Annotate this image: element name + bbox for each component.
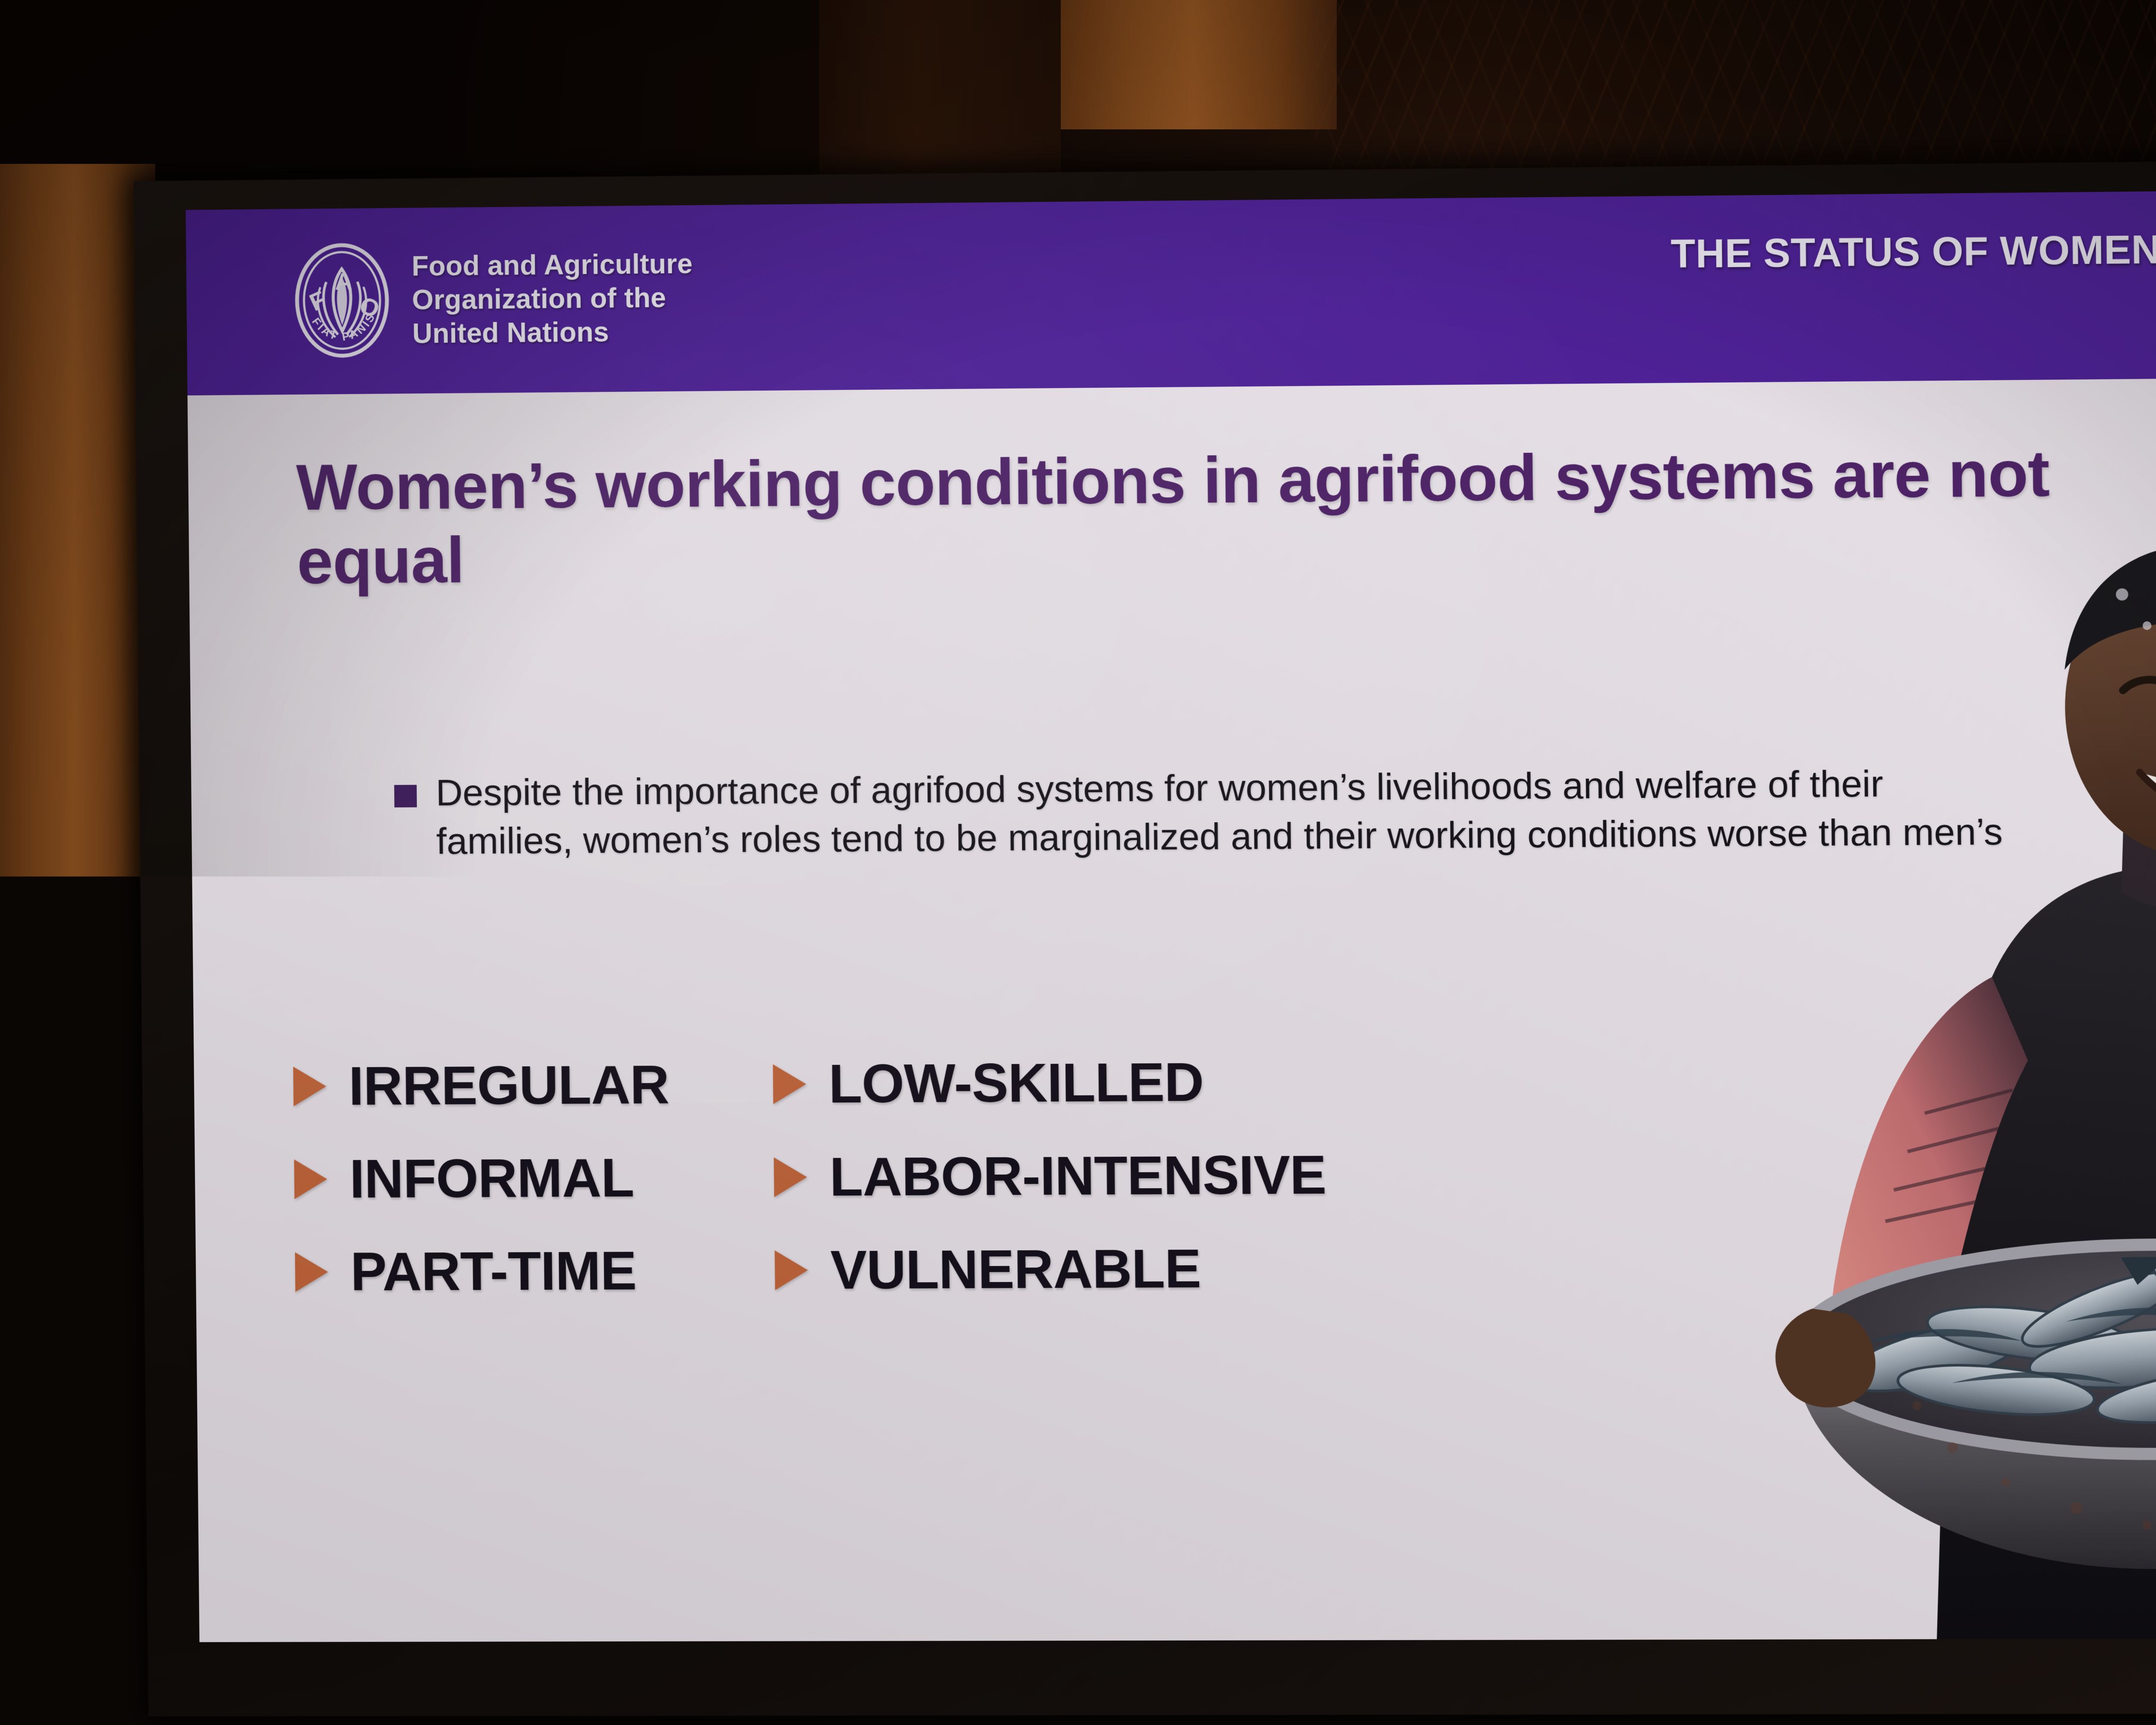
triangle-marker-icon: [774, 1157, 807, 1197]
keyword-label: INFORMAL: [349, 1146, 634, 1210]
wall-panel-upper-a: [819, 0, 1061, 185]
slide-header-band: F A O FIAT PANIS Food and Agriculture Or…: [186, 187, 2156, 395]
wall-panel-left: [0, 164, 155, 1725]
square-bullet-icon: [394, 785, 417, 807]
keyword-column-right: LOW-SKILLED LABOR-INTENSIVE VULNERABLE: [773, 1050, 1327, 1302]
triangle-marker-icon: [775, 1250, 808, 1290]
svg-text:A: A: [335, 267, 352, 295]
keyword-column-left: IRREGULAR INFORMAL PART-TIME: [293, 1053, 671, 1303]
fao-logo-block: F A O FIAT PANIS Food and Agriculture Or…: [290, 239, 694, 359]
keyword-label: VULNERABLE: [830, 1237, 1201, 1302]
triangle-marker-icon: [773, 1064, 806, 1104]
fao-organization-name: Food and Agriculture Organization of the…: [411, 247, 693, 351]
org-name-line-1: Food and Agriculture: [411, 247, 693, 283]
fao-emblem-icon: F A O FIAT PANIS: [290, 241, 395, 359]
presentation-slide: F A O FIAT PANIS Food and Agriculture Or…: [186, 187, 2156, 1642]
keyword-item: INFORMAL: [294, 1146, 670, 1211]
keyword-item: IRREGULAR: [293, 1053, 669, 1117]
org-name-line-2: Organization of the: [412, 280, 693, 317]
event-meta: Nairobi, Kenya|26 June 2023: [1671, 280, 2156, 328]
keyword-label: PART-TIME: [350, 1239, 636, 1303]
keyword-item: LABOR-INTENSIVE: [774, 1143, 1326, 1208]
triangle-marker-icon: [295, 1252, 328, 1292]
keyword-item: VULNERABLE: [774, 1236, 1327, 1301]
org-name-line-3: United Nations: [412, 314, 693, 351]
keyword-columns: IRREGULAR INFORMAL PART-TIME LOW-SKILLED: [293, 1050, 1327, 1303]
keyword-label: LABOR-INTENSIVE: [829, 1143, 1326, 1208]
keyword-item: LOW-SKILLED: [773, 1050, 1326, 1116]
keyword-label: LOW-SKILLED: [828, 1051, 1204, 1115]
wall-panel-upper-b: [1061, 0, 1337, 129]
triangle-marker-icon: [294, 1159, 327, 1199]
svg-text:F: F: [305, 285, 330, 317]
triangle-marker-icon: [293, 1066, 326, 1106]
keyword-label: IRREGULAR: [348, 1053, 669, 1117]
event-title: THE STATUS OF WOMEN IN AGRIFOOD SYSTEMS: [1670, 223, 2156, 277]
keyword-item: PART-TIME: [295, 1239, 671, 1303]
projection-screen-bezel: F A O FIAT PANIS Food and Agriculture Or…: [134, 157, 2156, 1716]
event-header: THE STATUS OF WOMEN IN AGRIFOOD SYSTEMS …: [1670, 223, 2156, 328]
wall-ornament: [1315, 0, 2156, 181]
fish-trader-photo: [1724, 519, 2156, 1640]
